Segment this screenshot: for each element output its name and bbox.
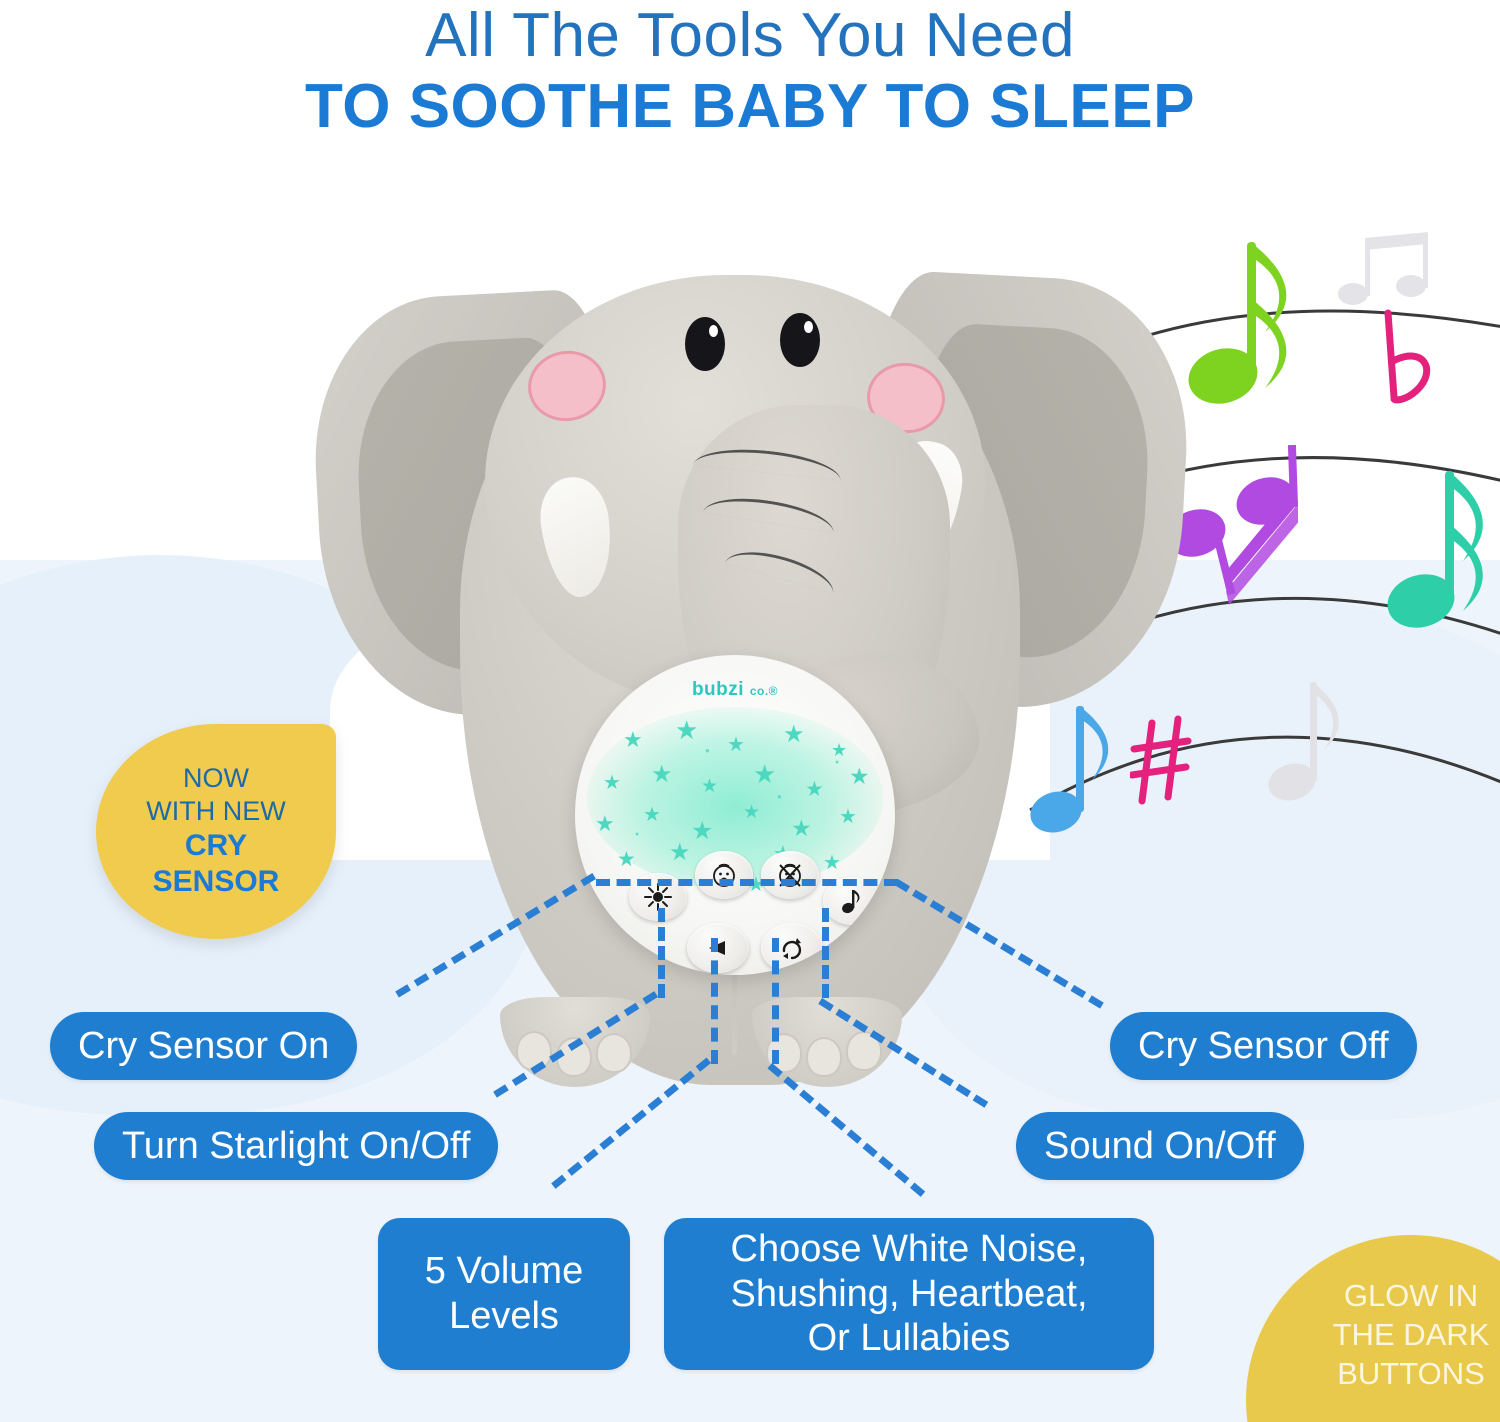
brand-logo: bubzi co.®: [575, 679, 895, 701]
headline-line-2: TO SOOTHE BABY TO SLEEP: [0, 68, 1500, 146]
callout-label-line-1: 5 Volume: [425, 1249, 583, 1294]
brand-suffix: co.®: [750, 684, 778, 698]
callout-label: Sound On/Off: [1044, 1125, 1276, 1168]
callout-cry-sensor-off[interactable]: Cry Sensor Off: [1110, 1012, 1417, 1080]
badge-cry-sensor: NOW WITH NEW CRY SENSOR: [96, 724, 336, 939]
repeat-loop-icon: [778, 935, 806, 961]
callout-sound-on-off[interactable]: Sound On/Off: [1016, 1112, 1304, 1180]
badge-line-2: THE DARK: [1333, 1316, 1490, 1355]
callout-label: Cry Sensor Off: [1138, 1025, 1389, 1068]
infographic-canvas: All The Tools You Need TO SOOTHE BABY TO…: [0, 0, 1500, 1422]
volume-button[interactable]: [687, 923, 749, 973]
teal-eighth-note-icon: [1385, 455, 1495, 635]
callout-sound-modes[interactable]: Choose White Noise, Shushing, Heartbeat,…: [664, 1218, 1154, 1370]
badge-line-1: GLOW IN: [1344, 1277, 1478, 1316]
dash-connector: [596, 879, 898, 886]
dash-connector: [711, 938, 718, 1064]
elephant-left-eye: [685, 317, 725, 371]
badge-line-4: SENSOR: [153, 864, 280, 901]
callout-label: Cry Sensor On: [78, 1025, 329, 1068]
dash-connector: [658, 908, 665, 998]
callout-turn-starlight[interactable]: Turn Starlight On/Off: [94, 1112, 498, 1180]
product-control-panel: bubzi co.® ★ ★ ★ ★ ★ ★ ★ ★ ★ ★ ★ ★ ★ ★ ★…: [575, 655, 895, 975]
elephant-right-eye: [780, 313, 820, 367]
toe: [806, 1037, 842, 1077]
grey-beamed-notes-icon: [1335, 228, 1435, 318]
callout-label-line-2: Levels: [449, 1294, 559, 1339]
badge-line-1: NOW: [183, 762, 249, 795]
callout-label-line-2: Shushing, Heartbeat,: [730, 1272, 1087, 1317]
cry-sensor-on-button[interactable]: [695, 851, 753, 899]
callout-label-line-1: Choose White Noise,: [731, 1227, 1088, 1272]
pink-flat-symbol-icon: [1368, 305, 1448, 435]
green-eighth-note-icon: [1185, 228, 1305, 408]
volume-triangle-icon: [703, 937, 733, 959]
grey-eighth-note-icon: [1268, 668, 1348, 808]
cry-sensor-off-button[interactable]: [761, 851, 819, 899]
callout-volume-levels[interactable]: 5 Volume Levels: [378, 1218, 630, 1370]
music-note-icon: [839, 887, 865, 915]
sound-mode-button[interactable]: [761, 923, 823, 973]
badge-line-3: CRY: [185, 828, 247, 865]
dash-connector: [772, 938, 779, 1064]
brand-name: bubzi: [692, 679, 744, 700]
callout-cry-sensor-on[interactable]: Cry Sensor On: [50, 1012, 357, 1080]
badge-line-3: BUTTONS: [1337, 1355, 1485, 1394]
headline-block: All The Tools You Need TO SOOTHE BABY TO…: [0, 4, 1500, 146]
callout-label-line-3: Or Lullabies: [808, 1316, 1011, 1361]
dash-connector: [822, 908, 829, 998]
headline-line-1: All The Tools You Need: [0, 4, 1500, 68]
toe: [596, 1033, 632, 1073]
badge-line-2: WITH NEW: [146, 795, 285, 828]
callout-label: Turn Starlight On/Off: [122, 1125, 470, 1168]
